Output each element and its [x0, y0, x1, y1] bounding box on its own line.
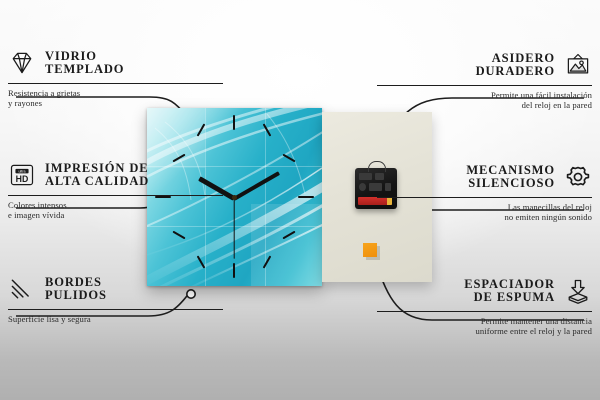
- ultra-hd-icon-main-label: HD: [16, 174, 29, 184]
- foam-spacer: [363, 243, 377, 257]
- divider: [8, 309, 223, 310]
- clock-tick: [298, 196, 314, 198]
- ultra-hd-icon: ultra HD: [8, 162, 36, 188]
- gear-icon: [564, 164, 592, 190]
- feature-description: Permite mantener una distancia uniforme …: [377, 316, 592, 337]
- feature-description: Superficie lisa y segura: [8, 314, 223, 324]
- feature-title: BORDES PULIDOS: [45, 276, 107, 303]
- diamond-icon: [8, 50, 36, 76]
- feature-title: VIDRIO TEMPLADO: [45, 50, 124, 77]
- divider: [377, 311, 592, 312]
- infographic-canvas: VIDRIO TEMPLADO Resistencia a grietas y …: [0, 0, 600, 400]
- divider: [8, 83, 223, 84]
- divider: [8, 195, 223, 196]
- divider: [377, 85, 592, 86]
- feature-description: Permite una fácil instalación del reloj …: [377, 90, 592, 111]
- feature-title: IMPRESIÓN DE ALTA CALIDAD: [45, 162, 149, 189]
- ultra-hd-icon-top-label: ultra: [18, 170, 26, 174]
- feature-description: Las manecillas del reloj no emiten ningú…: [377, 202, 592, 223]
- clock-tick: [233, 115, 235, 130]
- feature-title: MECANISMO SILENCIOSO: [466, 164, 555, 191]
- feature-impresion-alta-calidad: ultra HD IMPRESIÓN DE ALTA CALIDAD Color…: [8, 158, 223, 221]
- clock-second-hand: [233, 198, 234, 258]
- divider: [377, 197, 592, 198]
- feature-description: Colores intensos e imagen vívida: [8, 200, 223, 221]
- feature-title: ESPACIADOR DE ESPUMA: [464, 278, 555, 305]
- feature-espaciador-espuma: ESPACIADOR DE ESPUMA Permite mantener un…: [377, 274, 592, 337]
- feature-asidero-duradero: ASIDERO DURADERO Permite una fácil insta…: [377, 48, 592, 111]
- feature-title: ASIDERO DURADERO: [476, 52, 555, 79]
- foam-spacer-icon: [564, 278, 592, 304]
- feature-bordes-pulidos: BORDES PULIDOS Superficie lisa y segura: [8, 272, 223, 324]
- polished-edges-icon: [8, 276, 36, 302]
- hanging-frame-icon: [564, 52, 592, 78]
- clock-center-hub: [232, 195, 237, 200]
- clock-tick: [233, 263, 235, 278]
- feature-vidrio-templado: VIDRIO TEMPLADO Resistencia a grietas y …: [8, 46, 223, 109]
- feature-mecanismo-silencioso: MECANISMO SILENCIOSO Las manecillas del …: [377, 160, 592, 223]
- feature-description: Resistencia a grietas y rayones: [8, 88, 223, 109]
